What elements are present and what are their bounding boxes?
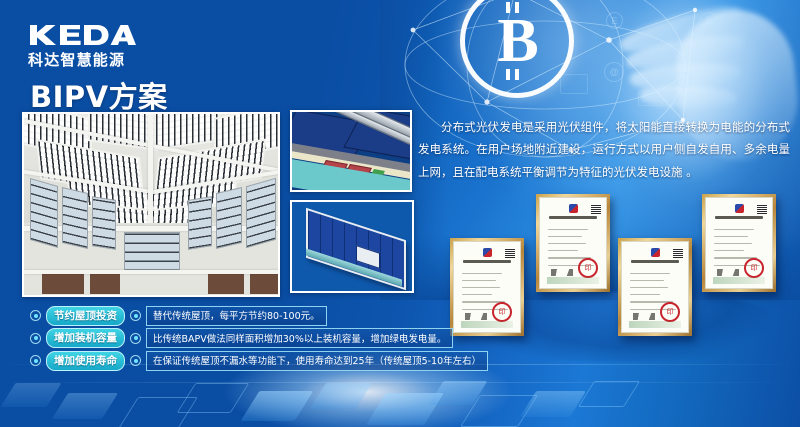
slide-canvas: B @ E B B [0,0,800,427]
brand-logo-cn: 科达智慧能源 [28,49,148,70]
circuit-block-icon [560,74,588,94]
circuit-badge-icon: B [700,12,718,30]
circuit-badge-icon: B [676,72,692,88]
benefit-label[interactable]: 增加装机容量 [46,328,125,348]
certificate-card[interactable]: 印 [536,194,610,292]
benefit-label[interactable]: 增加使用寿命 [46,351,125,371]
ring-dot-icon [30,355,41,366]
certificate-card[interactable]: 印 [450,238,524,336]
benefit-description: 在保证传统屋顶不漏水等功能下，使用寿命达到25年（传统屋顶5-10年左右） [146,351,488,371]
certificate-card[interactable]: 印 [702,194,776,292]
circuit-badge-icon: @ [604,62,624,82]
atrium-skylight-photo [22,112,280,297]
ring-dot-icon [130,333,141,344]
brand-logo[interactable]: 科达智慧能源 [28,22,148,70]
certificate-group: 印 印 印 [440,190,800,340]
bitcoin-symbol: B [497,10,536,72]
intro-paragraph: 分布式光伏发电是采用光伏组件，将太阳能直接转换为电能的分布式发电系统。在用户场地… [418,116,790,183]
ring-dot-icon [130,355,141,366]
keda-wordmark-icon [28,22,148,48]
circuit-block-icon [638,90,674,106]
benefit-row: 增加装机容量 比传统BAPV做法同样面积增加30%以上装机容量，增加绿电发电量。 [30,329,450,348]
benefit-description: 比传统BAPV做法同样面积增加30%以上装机容量，增加绿电发电量。 [146,328,453,348]
certificate-card[interactable]: 印 [618,238,692,336]
circuit-badge-icon: E [606,12,623,29]
pv-module-diagram [290,200,414,293]
ring-dot-icon [130,310,141,321]
benefit-row: 增加使用寿命 在保证传统屋顶不漏水等功能下，使用寿命达到25年（传统屋顶5-10… [30,351,450,370]
benefit-label[interactable]: 节约屋顶投资 [46,306,125,326]
benefit-description: 替代传统屋顶，每平方节约80-100元。 [146,306,327,326]
benefit-list: 节约屋顶投资 替代传统屋顶，每平方节约80-100元。 增加装机容量 比传统BA… [30,306,450,374]
ring-dot-icon [30,310,41,321]
mounting-detail-diagram [290,110,412,192]
benefit-row: 节约屋顶投资 替代传统屋顶，每平方节约80-100元。 [30,306,450,325]
page-title: BIPV方案 [30,74,168,116]
ring-dot-icon [30,333,41,344]
